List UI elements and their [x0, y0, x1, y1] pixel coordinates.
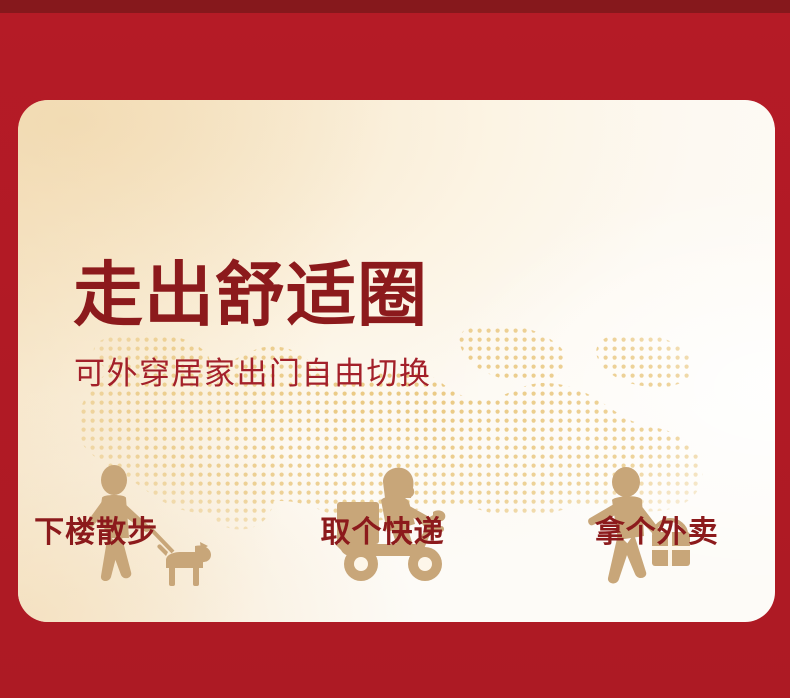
- feature-label-pickup-parcel: 取个快递: [320, 516, 444, 549]
- feature-label-row: 下楼散步 取个快递 拿个外卖: [18, 508, 775, 558]
- feature-item-grab-takeout[interactable]: [523, 365, 775, 600]
- top-accent-strip: [0, 0, 790, 13]
- feature-icon-row: [18, 365, 775, 600]
- promo-card: 走出舒适圈 可外穿居家出门自由切换: [18, 100, 775, 622]
- feature-label-walk-dog: 下楼散步: [34, 516, 158, 549]
- feature-item-walk-dog[interactable]: [18, 365, 270, 600]
- page-title: 走出舒适圈: [73, 260, 428, 330]
- feature-label-grab-takeout: 拿个外卖: [595, 516, 719, 549]
- feature-item-pickup-parcel[interactable]: [270, 365, 522, 600]
